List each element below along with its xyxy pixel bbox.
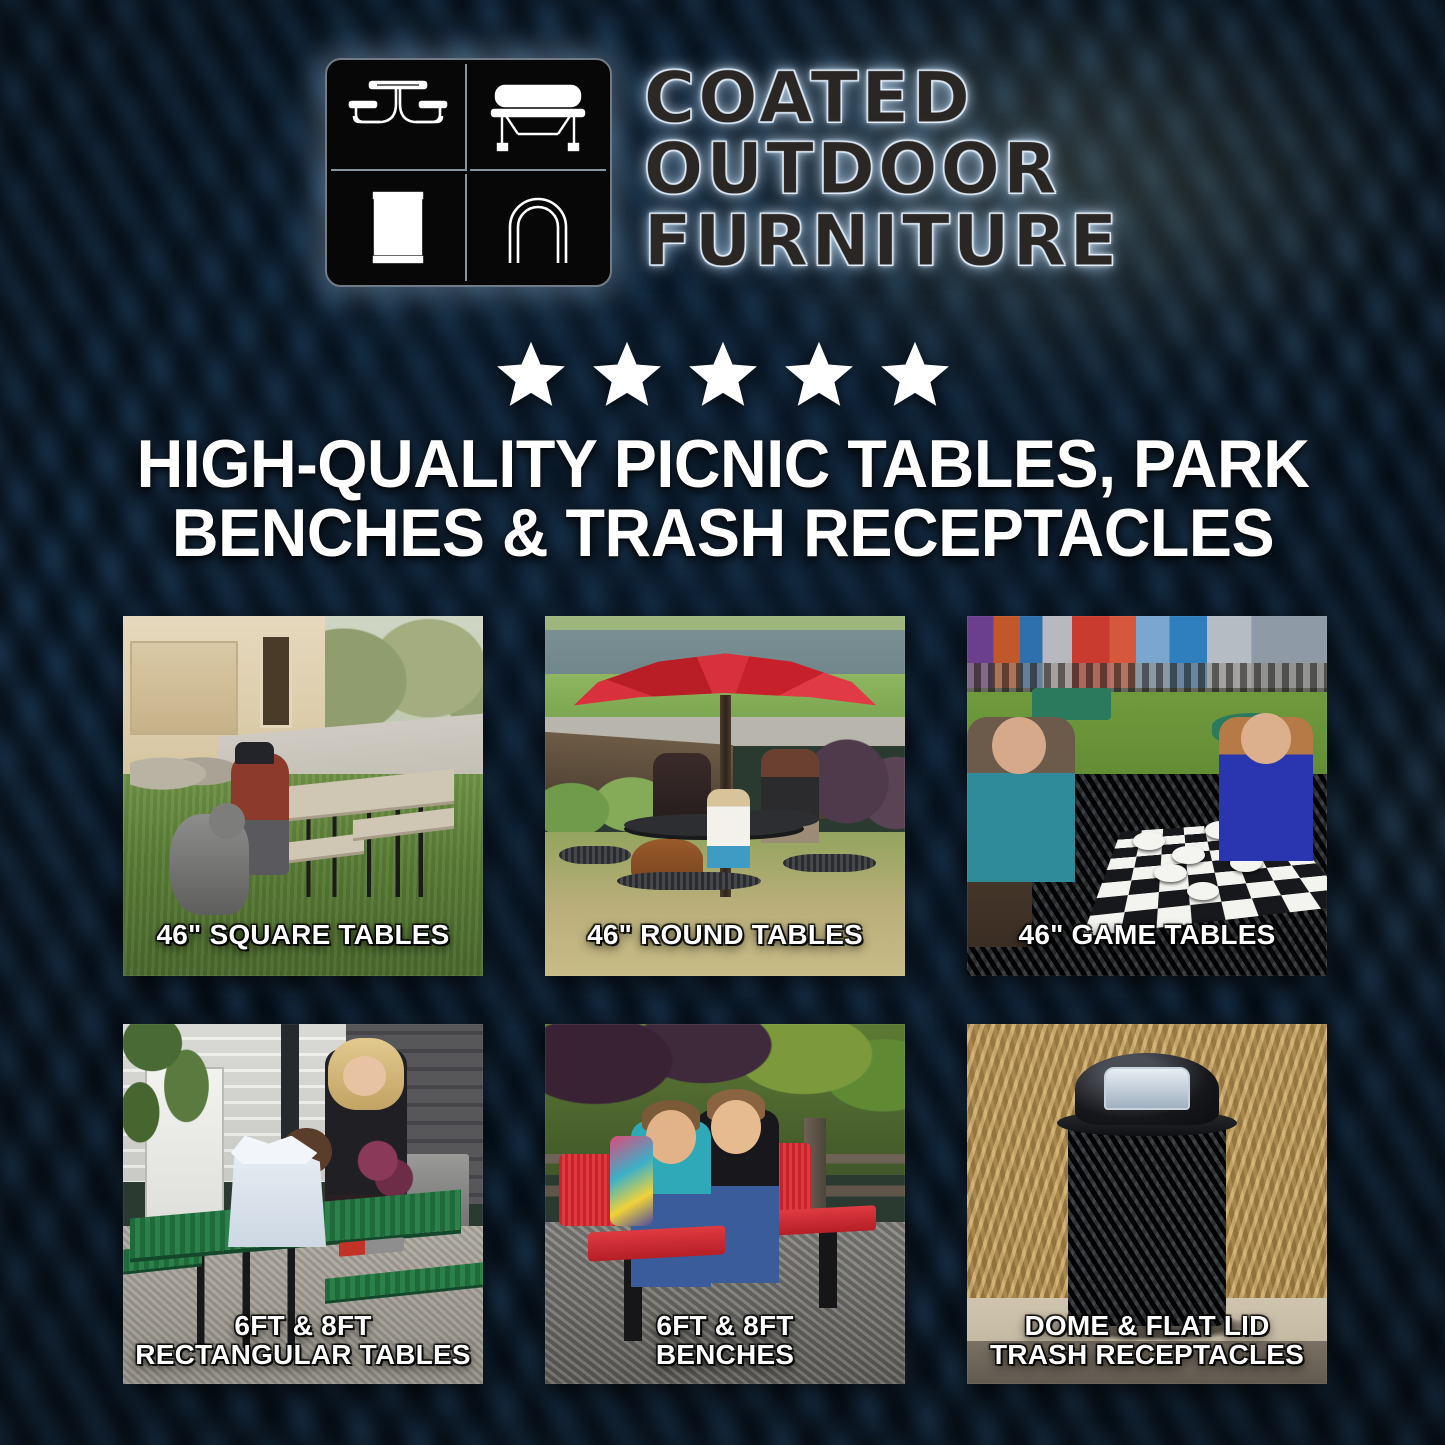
product-tile-benches[interactable]: 6FT & 8FT BENCHES: [545, 1024, 905, 1384]
star-icon: [684, 338, 762, 412]
product-grid: 46" SQUARE TABLES 46" ROUND TABLES: [123, 616, 1323, 1384]
picnic-table-front-icon: [331, 64, 467, 171]
bike-rack-arch-icon: [470, 174, 606, 281]
brand-name-line-2: OUTDOOR: [644, 135, 1121, 204]
rating-stars: [0, 338, 1445, 412]
brand-header: COATED OUTDOOR FURNITURE: [0, 58, 1445, 287]
star-icon: [876, 338, 954, 412]
brand-name-line-3: FURNITURE: [644, 207, 1121, 276]
product-tile-rectangular-tables[interactable]: 6FT & 8FT RECTANGULAR TABLES: [123, 1024, 483, 1384]
product-tile-round-tables[interactable]: 46" ROUND TABLES: [545, 616, 905, 976]
product-tile-game-tables[interactable]: 46" GAME TABLES: [967, 616, 1327, 976]
product-tile-square-tables[interactable]: 46" SQUARE TABLES: [123, 616, 483, 976]
star-icon: [492, 338, 570, 412]
product-caption: 6FT & 8FT BENCHES: [545, 1312, 905, 1370]
star-icon: [780, 338, 858, 412]
product-caption: 46" SQUARE TABLES: [123, 921, 483, 950]
product-caption: 6FT & 8FT RECTANGULAR TABLES: [123, 1312, 483, 1370]
star-icon: [588, 338, 666, 412]
brand-name-line-1: COATED: [644, 64, 1121, 133]
brand-wordmark: COATED OUTDOOR FURNITURE: [644, 58, 1121, 276]
product-tile-trash-receptacles[interactable]: DOME & FLAT LID TRASH RECEPTACLES: [967, 1024, 1327, 1384]
product-caption: 46" GAME TABLES: [967, 921, 1327, 950]
headline-line-1: HIGH-QUALITY PICNIC TABLES, PARK: [124, 430, 1321, 499]
headline-line-2: BENCHES & TRASH RECEPTACLES: [124, 499, 1321, 568]
trash-receptacle-icon: [331, 174, 467, 281]
bench-side-icon: [470, 64, 606, 171]
logo-mark: [325, 58, 612, 287]
product-caption: DOME & FLAT LID TRASH RECEPTACLES: [967, 1312, 1327, 1370]
page-headline: HIGH-QUALITY PICNIC TABLES, PARK BENCHES…: [93, 430, 1353, 569]
product-caption: 46" ROUND TABLES: [545, 921, 905, 950]
